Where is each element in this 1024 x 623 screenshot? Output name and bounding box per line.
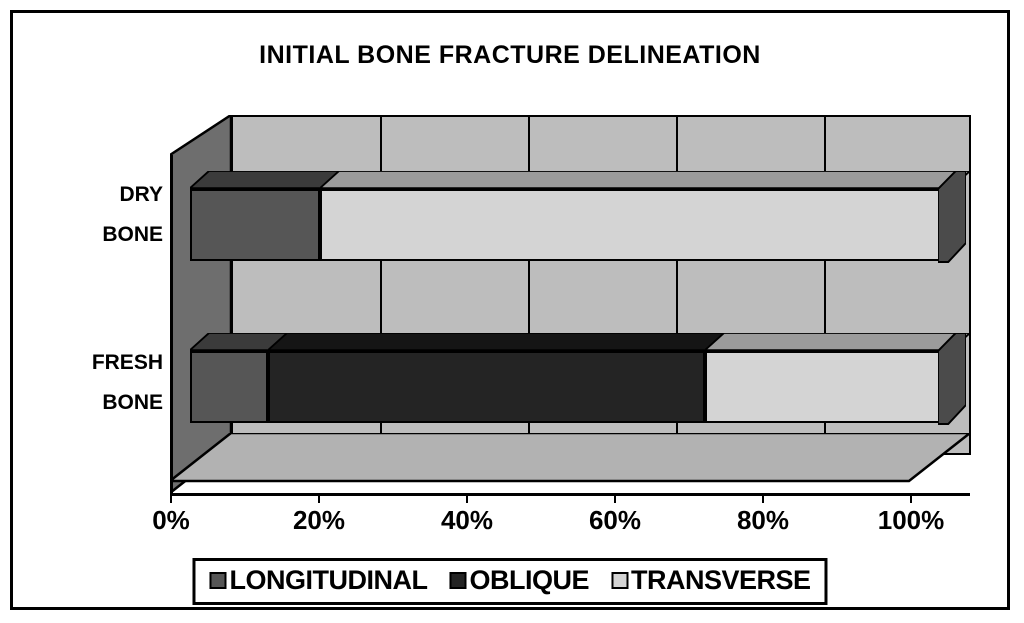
- legend-item-transverse[interactable]: TRANSVERSE: [611, 565, 811, 596]
- bar-segment-top-face: [320, 171, 970, 189]
- bar-segment-top-face: [705, 333, 970, 351]
- x-axis-tick-20: [318, 493, 320, 503]
- bar-segment-dry-transverse: [320, 171, 940, 263]
- legend-item-oblique[interactable]: OBLIQUE: [449, 565, 589, 596]
- x-axis-label-60: 60%: [589, 505, 641, 536]
- plot-area: 0% 20% 40% 60% 80% 100%: [160, 103, 980, 493]
- legend-label-longitudinal: LONGITUDINAL: [229, 565, 427, 596]
- chart-legend: LONGITUDINAL OBLIQUE TRANSVERSE: [192, 558, 827, 605]
- x-axis-tick-40: [466, 493, 468, 503]
- x-axis-tick-100: [910, 493, 912, 503]
- category-label-dry-bone-line1: DRY: [119, 175, 163, 215]
- chart-frame: INITIAL BONE FRACTURE DELINEATION: [10, 10, 1010, 610]
- category-label-dry-bone-line2: BONE: [102, 215, 163, 255]
- legend-label-transverse: TRANSVERSE: [631, 565, 811, 596]
- x-axis-tick-80: [762, 493, 764, 503]
- bar-segment-dry-longitudinal: [190, 171, 320, 263]
- plot-floor: [170, 433, 970, 493]
- bar-segment-fresh-oblique: [268, 333, 705, 425]
- bar-end-cap: [938, 333, 966, 425]
- x-axis-label-40: 40%: [441, 505, 493, 536]
- bar-segment-fresh-longitudinal: [190, 333, 268, 425]
- x-axis-label-100: 100%: [878, 505, 945, 536]
- y-axis-line: [170, 155, 173, 496]
- bar-segment-top-face: [268, 333, 735, 351]
- legend-swatch-oblique-icon: [449, 572, 466, 589]
- legend-swatch-longitudinal-icon: [209, 572, 226, 589]
- bar-segment-fresh-transverse: [705, 333, 940, 425]
- legend-label-oblique: OBLIQUE: [469, 565, 589, 596]
- category-label-fresh-bone-line2: BONE: [102, 383, 163, 423]
- x-axis-label-0: 0%: [152, 505, 190, 536]
- bar-end-cap: [938, 171, 966, 263]
- bar-fresh-bone: [190, 333, 980, 428]
- x-axis-label-80: 80%: [737, 505, 789, 536]
- y-axis-category-labels: DRY BONE FRESH BONE: [58, 163, 163, 453]
- x-axis-tick-0: [170, 493, 172, 503]
- x-axis-tick-60: [614, 493, 616, 503]
- category-label-fresh-bone-line1: FRESH: [92, 343, 163, 383]
- legend-item-longitudinal[interactable]: LONGITUDINAL: [209, 565, 427, 596]
- x-axis-line: [170, 493, 970, 496]
- chart-title: INITIAL BONE FRACTURE DELINEATION: [13, 41, 1007, 70]
- bar-dry-bone: [190, 171, 980, 266]
- legend-swatch-transverse-icon: [611, 572, 628, 589]
- x-axis-label-20: 20%: [293, 505, 345, 536]
